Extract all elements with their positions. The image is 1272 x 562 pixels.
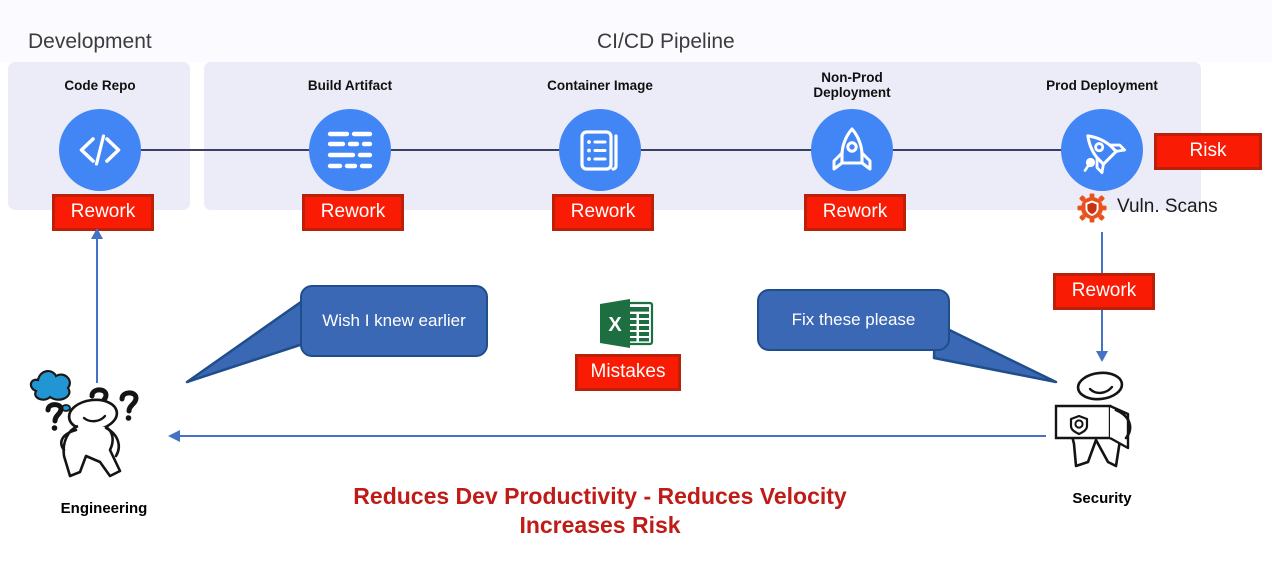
node-label-non-prod-deployment: Non-Prod Deployment xyxy=(767,70,937,100)
prod-rework-feedback-arrowhead xyxy=(1096,351,1108,362)
pipeline-node-container-image[interactable]: Container Image xyxy=(515,78,685,93)
rework-badge-container-image[interactable]: Rework xyxy=(552,194,654,231)
diagram-canvas: Development CI/CD Pipeline Code Repo Rew… xyxy=(0,0,1272,562)
node-label-container-image: Container Image xyxy=(515,78,685,93)
connector-container-to-nonprod xyxy=(641,149,836,151)
rework-badge-prod-deployment[interactable]: Rework xyxy=(1053,273,1155,310)
document-list-icon[interactable] xyxy=(559,109,641,191)
node-label-prod-deployment: Prod Deployment xyxy=(1017,78,1187,93)
pipeline-node-code-repo[interactable]: Code Repo xyxy=(15,78,185,93)
node-label-build-artifact: Build Artifact xyxy=(265,78,435,93)
build-lines-icon[interactable] xyxy=(309,109,391,191)
code-brackets-icon[interactable] xyxy=(59,109,141,191)
security-to-engineering-line xyxy=(180,435,1046,437)
mistakes-badge[interactable]: Mistakes xyxy=(575,354,681,391)
connector-build-to-container xyxy=(391,149,584,151)
bubble-tail-engineering xyxy=(185,290,315,395)
summary-caption: Reduces Dev Productivity - Reduces Veloc… xyxy=(260,482,940,540)
vuln-scans-label: Vuln. Scans xyxy=(1117,196,1218,218)
confused-person-icon xyxy=(18,358,183,488)
pipeline-node-prod-deployment[interactable]: Prod Deployment xyxy=(1017,78,1187,93)
connector-nonprod-to-prod xyxy=(893,149,1086,151)
person-with-laptop-icon xyxy=(1046,370,1161,490)
risk-badge[interactable]: Risk xyxy=(1154,133,1262,170)
rocket-icon[interactable] xyxy=(811,109,893,191)
band-title-development: Development xyxy=(28,30,152,54)
rocket-launch-icon[interactable] xyxy=(1061,109,1143,191)
rework-badge-build-artifact[interactable]: Rework xyxy=(302,194,404,231)
speech-bubble-engineering[interactable]: Wish I knew earlier xyxy=(300,285,488,357)
svg-text:X: X xyxy=(608,314,622,336)
actor-label-engineering: Engineering xyxy=(24,500,184,517)
code-repo-feedback-arrowhead xyxy=(91,228,103,239)
speech-bubble-security[interactable]: Fix these please xyxy=(757,289,950,351)
connector-repo-to-build xyxy=(141,149,334,151)
band-title-cicd-pipeline: CI/CD Pipeline xyxy=(597,30,735,54)
shield-gear-icon xyxy=(1077,193,1107,228)
pipeline-node-build-artifact[interactable]: Build Artifact xyxy=(265,78,435,93)
rework-badge-non-prod-deployment[interactable]: Rework xyxy=(804,194,906,231)
node-label-code-repo: Code Repo xyxy=(15,78,185,93)
actor-label-security: Security xyxy=(1032,490,1172,507)
rework-badge-code-repo[interactable]: Rework xyxy=(52,194,154,231)
excel-spreadsheet-icon: X xyxy=(597,298,655,355)
pipeline-node-non-prod-deployment[interactable]: Non-Prod Deployment xyxy=(767,70,937,100)
